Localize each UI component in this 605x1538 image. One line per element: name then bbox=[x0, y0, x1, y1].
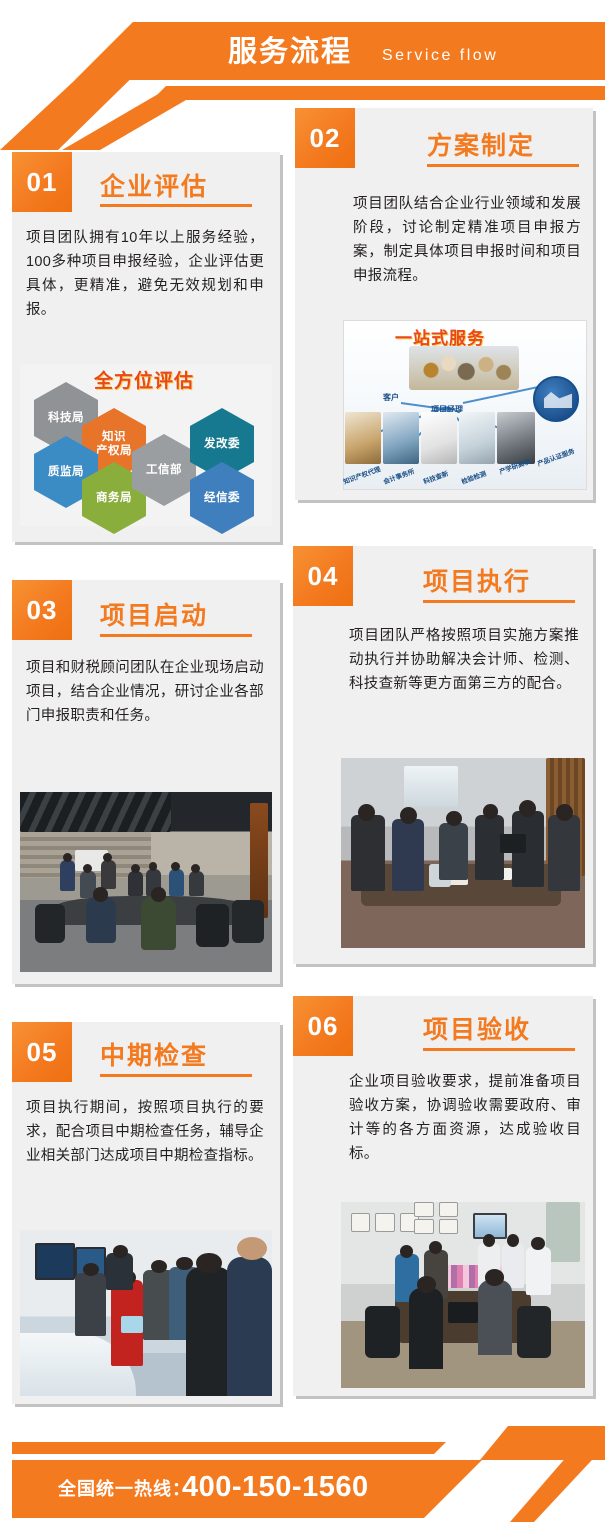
hotline-label: 全国统一热线： bbox=[58, 1476, 191, 1502]
photo-laptop bbox=[448, 1302, 477, 1322]
photo-person-head bbox=[519, 800, 536, 817]
photo-person bbox=[548, 815, 580, 891]
acceptance-meeting-photo bbox=[341, 1202, 585, 1388]
step-number-badge: 03 bbox=[12, 580, 72, 640]
photo-person-head bbox=[556, 804, 573, 821]
photo-laptop bbox=[500, 834, 527, 853]
title-underline bbox=[100, 204, 252, 207]
hex-node-label: 科技局 bbox=[48, 411, 84, 425]
hex-node-label: 工信部 bbox=[146, 463, 182, 477]
title-underline bbox=[100, 634, 252, 637]
photo-person-head bbox=[93, 887, 108, 901]
photo-person-head bbox=[196, 1253, 221, 1273]
photo-chair bbox=[196, 904, 229, 947]
photo-canvas bbox=[20, 1230, 272, 1396]
step-title: 中期检查 bbox=[100, 1036, 208, 1072]
photo-certificate-frame bbox=[439, 1219, 459, 1234]
photo-person-head bbox=[507, 1234, 519, 1247]
page-footer: 全国统一热线： 400-150-1560 bbox=[0, 1426, 605, 1538]
service-node-customer: 客户 bbox=[383, 392, 399, 403]
photo-chair bbox=[517, 1306, 551, 1358]
step-card-05[interactable]: 05 中期检查 项目执行期间，按照项目执行的要求，配合项目中期检查任务，辅导企业… bbox=[12, 1022, 280, 1404]
service-thumb-4 bbox=[497, 412, 535, 464]
photo-person-head bbox=[485, 1269, 505, 1286]
photo-person-foreground bbox=[409, 1288, 443, 1370]
photo-person bbox=[189, 871, 204, 896]
step-card-02[interactable]: 02 方案制定 项目团队结合企业行业领域和发展阶段，讨论制定精准项目申报方案，制… bbox=[295, 108, 593, 500]
photo-ceiling-pattern bbox=[20, 792, 171, 832]
step-description: 项目团队结合企业行业领域和发展阶段，讨论制定精准项目申报方案，制定具体项目申报时… bbox=[353, 192, 581, 288]
photo-person-head bbox=[83, 864, 92, 873]
photo-person-head bbox=[531, 1237, 544, 1250]
service-thumb-3 bbox=[459, 412, 495, 464]
meeting-room-photo bbox=[20, 792, 272, 972]
step-card-01[interactable]: 01 企业评估 项目团队拥有10年以上服务经验，100多种项目申报经验，企业评估… bbox=[12, 152, 280, 542]
team-photo bbox=[409, 346, 519, 390]
hotline-number[interactable]: 400-150-1560 bbox=[182, 1470, 369, 1504]
service-thumb-1 bbox=[383, 412, 419, 464]
step-description: 企业项目验收要求，提前准备项目验收方案，协调验收需要政府、审计等的各方面资源，达… bbox=[349, 1070, 581, 1166]
hexagon-assessment-figure: 全方位评估 科技局 知识 产权局 质监局 商务局 工信部 发改委 经信委 bbox=[20, 364, 272, 526]
step-number-badge: 01 bbox=[12, 152, 72, 212]
photo-person-head bbox=[400, 807, 417, 824]
photo-person-foreground bbox=[227, 1257, 272, 1396]
title-underline bbox=[423, 1048, 575, 1051]
photo-chair bbox=[232, 900, 265, 943]
step-description: 项目和财税顾问团队在企业现场启动项目，结合企业情况，研讨企业各部门申报职责和任务… bbox=[26, 656, 264, 728]
photo-person-head bbox=[483, 804, 499, 819]
photo-person bbox=[106, 1253, 134, 1290]
photo-person-foreground bbox=[478, 1280, 512, 1354]
step-description: 项目团队严格按照项目实施方案推动执行并协助解决会计师、检测、科技查新等更方面第三… bbox=[349, 624, 579, 696]
photo-person bbox=[75, 1273, 105, 1336]
photo-person bbox=[392, 819, 424, 891]
step-number-badge: 04 bbox=[293, 546, 353, 606]
step-card-03[interactable]: 03 项目启动 项目和财税顾问团队在企业现场启动项目，结合企业情况，研讨企业各部… bbox=[12, 580, 280, 984]
step-description: 项目执行期间，按照项目执行的要求，配合项目中期检查任务，辅导企业相关部门达成项目… bbox=[26, 1096, 264, 1168]
step-number-badge: 02 bbox=[295, 108, 355, 168]
photo-canvas bbox=[20, 792, 272, 972]
step-title: 项目验收 bbox=[423, 1010, 531, 1046]
photo-person bbox=[60, 860, 75, 891]
photo-person-foreground bbox=[86, 896, 116, 943]
photo-chair bbox=[35, 904, 65, 944]
photo-certificate-frame bbox=[414, 1202, 434, 1217]
step-title: 方案制定 bbox=[427, 126, 535, 162]
step-description: 项目团队拥有10年以上服务经验，100多种项目申报经验，企业评估更具体，更精准，… bbox=[26, 226, 264, 322]
photo-person-foreground bbox=[186, 1267, 231, 1396]
photo-person bbox=[351, 815, 385, 891]
photo-person-head bbox=[176, 1257, 192, 1270]
photo-certificate-frame bbox=[351, 1213, 371, 1232]
photo-person-head bbox=[151, 887, 166, 901]
photo-person-head bbox=[446, 811, 462, 826]
title-underline bbox=[100, 1074, 252, 1077]
photo-door bbox=[546, 1202, 580, 1262]
photo-chair bbox=[365, 1306, 399, 1358]
photo-person-head bbox=[400, 1245, 413, 1258]
photo-person-head bbox=[483, 1234, 495, 1247]
photo-person-head bbox=[417, 1276, 437, 1293]
step-number-badge: 06 bbox=[293, 996, 353, 1056]
conference-table-photo bbox=[341, 758, 585, 948]
photo-person-head bbox=[358, 804, 375, 821]
hex-node-label: 经信委 bbox=[204, 491, 240, 505]
page-subtitle: Service flow bbox=[382, 46, 498, 66]
reception-visit-photo bbox=[20, 1230, 272, 1396]
one-stop-service-figure: 一站式服务 客户 项目经理 知识产权代理 会计事务所 科技查新 检验检测 产学研… bbox=[343, 320, 587, 490]
photo-person-head bbox=[237, 1237, 267, 1260]
service-thumb-2 bbox=[421, 412, 457, 464]
photo-person-foreground bbox=[141, 896, 176, 950]
certification-seal-icon bbox=[533, 376, 579, 422]
service-thumb-0 bbox=[345, 412, 381, 464]
photo-person bbox=[169, 869, 184, 896]
hex-node-label: 发改委 bbox=[204, 437, 240, 451]
hex-node-label: 商务局 bbox=[96, 491, 132, 505]
photo-person bbox=[526, 1247, 550, 1295]
figure-title: 全方位评估 bbox=[94, 366, 194, 393]
photo-person-head bbox=[131, 864, 140, 873]
step-title: 项目执行 bbox=[423, 562, 531, 598]
photo-certificate-frame bbox=[439, 1202, 459, 1217]
photo-certificate-frame bbox=[414, 1219, 434, 1234]
title-underline bbox=[423, 600, 575, 603]
page-title: 服务流程 bbox=[228, 34, 352, 70]
photo-certificate-frame bbox=[375, 1213, 395, 1232]
photo-window bbox=[404, 766, 458, 808]
step-number-badge: 05 bbox=[12, 1022, 72, 1082]
hex-node-label: 知识 产权局 bbox=[96, 430, 132, 458]
photo-monitor bbox=[35, 1243, 75, 1280]
photo-brochure bbox=[121, 1316, 144, 1333]
photo-canvas bbox=[341, 758, 585, 948]
photo-person bbox=[439, 823, 468, 880]
hex-node-label: 质监局 bbox=[48, 465, 84, 479]
photo-person bbox=[101, 860, 116, 889]
step-title: 项目启动 bbox=[100, 596, 208, 632]
step-title: 企业评估 bbox=[100, 167, 208, 203]
step-card-06[interactable]: 06 项目验收 企业项目验收要求，提前准备项目验收方案，协调验收需要政府、审计等… bbox=[293, 996, 593, 1396]
title-underline bbox=[427, 164, 579, 167]
step-card-04[interactable]: 04 项目执行 项目团队严格按照项目实施方案推动执行并协助解决会计师、检测、科技… bbox=[293, 546, 593, 964]
photo-canvas bbox=[341, 1202, 585, 1388]
photo-person-head bbox=[63, 853, 72, 862]
photo-person bbox=[128, 871, 143, 896]
